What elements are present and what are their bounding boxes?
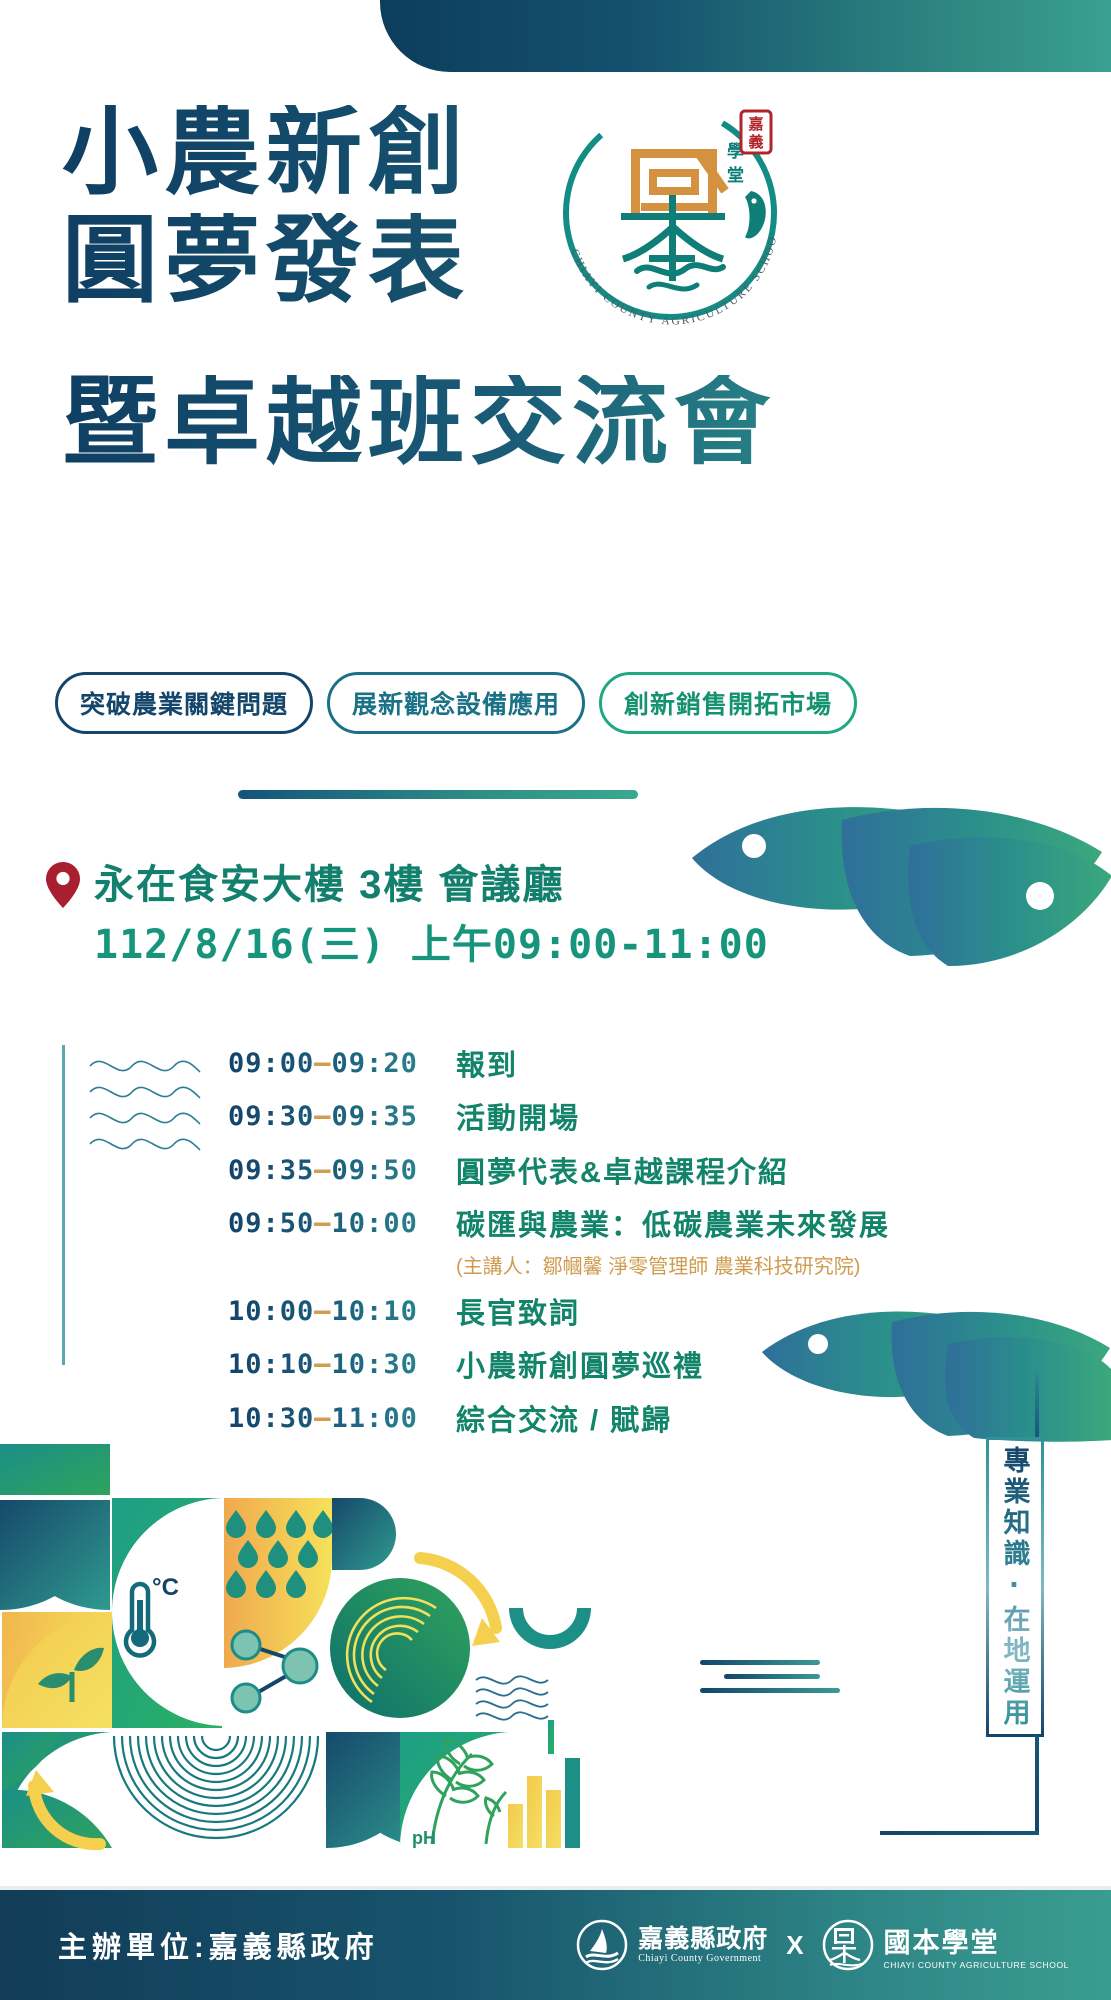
county-seal-icon bbox=[576, 1919, 628, 1971]
poster-root: 小農新創 圓夢發表 暨卓越班交流會 bbox=[0, 0, 1111, 2000]
school-seal-icon bbox=[822, 1919, 874, 1971]
schedule-time: 10:00–10:10 bbox=[228, 1296, 456, 1327]
school-logo-zh: 國本學堂 bbox=[884, 1921, 1069, 1960]
fish-decoration-icon bbox=[672, 780, 1111, 1020]
logo-separator-x: X bbox=[786, 1930, 803, 1961]
schedule-row: 09:50–10:00 碳匯與農業：低碳農業未來發展 (主講人：鄒幗馨 淨零管理… bbox=[228, 1208, 868, 1279]
tagline-pill-2: 展新觀念設備應用 bbox=[327, 672, 585, 734]
schedule-time: 09:50–10:00 bbox=[228, 1208, 456, 1239]
tree-ring-icon bbox=[330, 1578, 470, 1718]
section-divider bbox=[238, 790, 638, 799]
svg-text:堂: 堂 bbox=[727, 165, 744, 185]
county-logo-zh: 嘉義縣政府 bbox=[638, 1926, 768, 1954]
schedule-time: 10:30–11:00 bbox=[228, 1403, 456, 1434]
tagline-pill-row: 突破農業關鍵問題 展新觀念設備應用 創新銷售開拓市場 bbox=[55, 672, 857, 734]
concentric-arcs bbox=[114, 1736, 318, 1838]
chiayi-county-logo: 嘉義縣政府 Chiayi County Government bbox=[576, 1919, 768, 1971]
wave-decoration-icon bbox=[86, 1052, 206, 1162]
schedule-desc: 綜合交流 / 賦歸 bbox=[456, 1403, 672, 1439]
schedule-time: 09:35–09:50 bbox=[228, 1155, 456, 1186]
county-logo-en: Chiayi County Government bbox=[638, 1953, 768, 1964]
organizer-text: 主辦單位:嘉義縣政府 bbox=[58, 1924, 379, 1966]
schedule-time: 09:00–09:20 bbox=[228, 1048, 456, 1079]
school-logo-en: CHIAYI COUNTY AGRICULTURE SCHOOL bbox=[884, 1960, 1069, 1970]
schedule-desc: 圓夢代表&卓越課程介紹 bbox=[456, 1155, 789, 1191]
top-banner-bar bbox=[380, 0, 1111, 72]
schedule-desc: 活動開場 bbox=[456, 1101, 580, 1137]
schedule-vertical-rule bbox=[62, 1045, 65, 1365]
venue-row: 永在食安大樓 3樓 會議廳 bbox=[46, 858, 564, 912]
vertical-connector-top bbox=[1035, 1370, 1039, 1440]
agriculture-illustration: °C bbox=[0, 1440, 1111, 1860]
tagline-pill-3: 創新銷售開拓市場 bbox=[599, 672, 857, 734]
schedule-desc: 報到 bbox=[456, 1048, 518, 1084]
temperature-label: °C bbox=[152, 1574, 179, 1601]
schedule-row: 09:35–09:50 圓夢代表&卓越課程介紹 bbox=[228, 1155, 868, 1191]
tagline-pill-1: 突破農業關鍵問題 bbox=[55, 672, 313, 734]
schedule-desc: 碳匯與農業：低碳農業未來發展 bbox=[456, 1208, 890, 1244]
guoben-footer-logo: 國本學堂 CHIAYI COUNTY AGRICULTURE SCHOOL bbox=[822, 1919, 1069, 1971]
logo-bird-icon bbox=[745, 191, 766, 238]
schedule-desc: 長官致詞 bbox=[456, 1296, 580, 1332]
schedule-row: 09:00–09:20 報到 bbox=[228, 1048, 868, 1084]
footer-logos: 嘉義縣政府 Chiayi County Government X bbox=[576, 1919, 1069, 1971]
title-line-3: 暨卓越班交流會 bbox=[62, 375, 1062, 471]
location-pin-icon bbox=[46, 862, 80, 908]
footer-bar: 主辦單位:嘉義縣政府 嘉義縣政府 Chiayi County Governmen… bbox=[0, 1890, 1111, 2000]
datetime-text: 112/8/16(三) 上午09:00-11:00 bbox=[94, 912, 769, 970]
guoben-school-logo: 學 堂 嘉 義 CHIAYI COUNTY AGRICULTURE SCHOOL bbox=[545, 95, 795, 345]
ph-label: pH bbox=[412, 1828, 436, 1848]
wave-lines-small bbox=[476, 1676, 548, 1719]
schedule-speaker-note: (主講人：鄒幗馨 淨零管理師 農業科技研究院) bbox=[456, 1250, 890, 1279]
bar-chart-icon bbox=[508, 1758, 580, 1848]
schedule-desc: 小農新創圓夢巡禮 bbox=[456, 1349, 704, 1385]
logo-char-guo bbox=[631, 149, 725, 213]
schedule-row: 09:30–09:35 活動開場 bbox=[228, 1101, 868, 1137]
logo-seal-chiayi: 嘉 義 bbox=[741, 111, 771, 153]
venue-text: 永在食安大樓 3樓 會議廳 bbox=[94, 858, 564, 912]
svg-text:義: 義 bbox=[748, 133, 763, 151]
svg-text:嘉: 嘉 bbox=[747, 115, 763, 133]
schedule-time: 09:30–09:35 bbox=[228, 1101, 456, 1132]
schedule-time: 10:10–10:30 bbox=[228, 1349, 456, 1380]
